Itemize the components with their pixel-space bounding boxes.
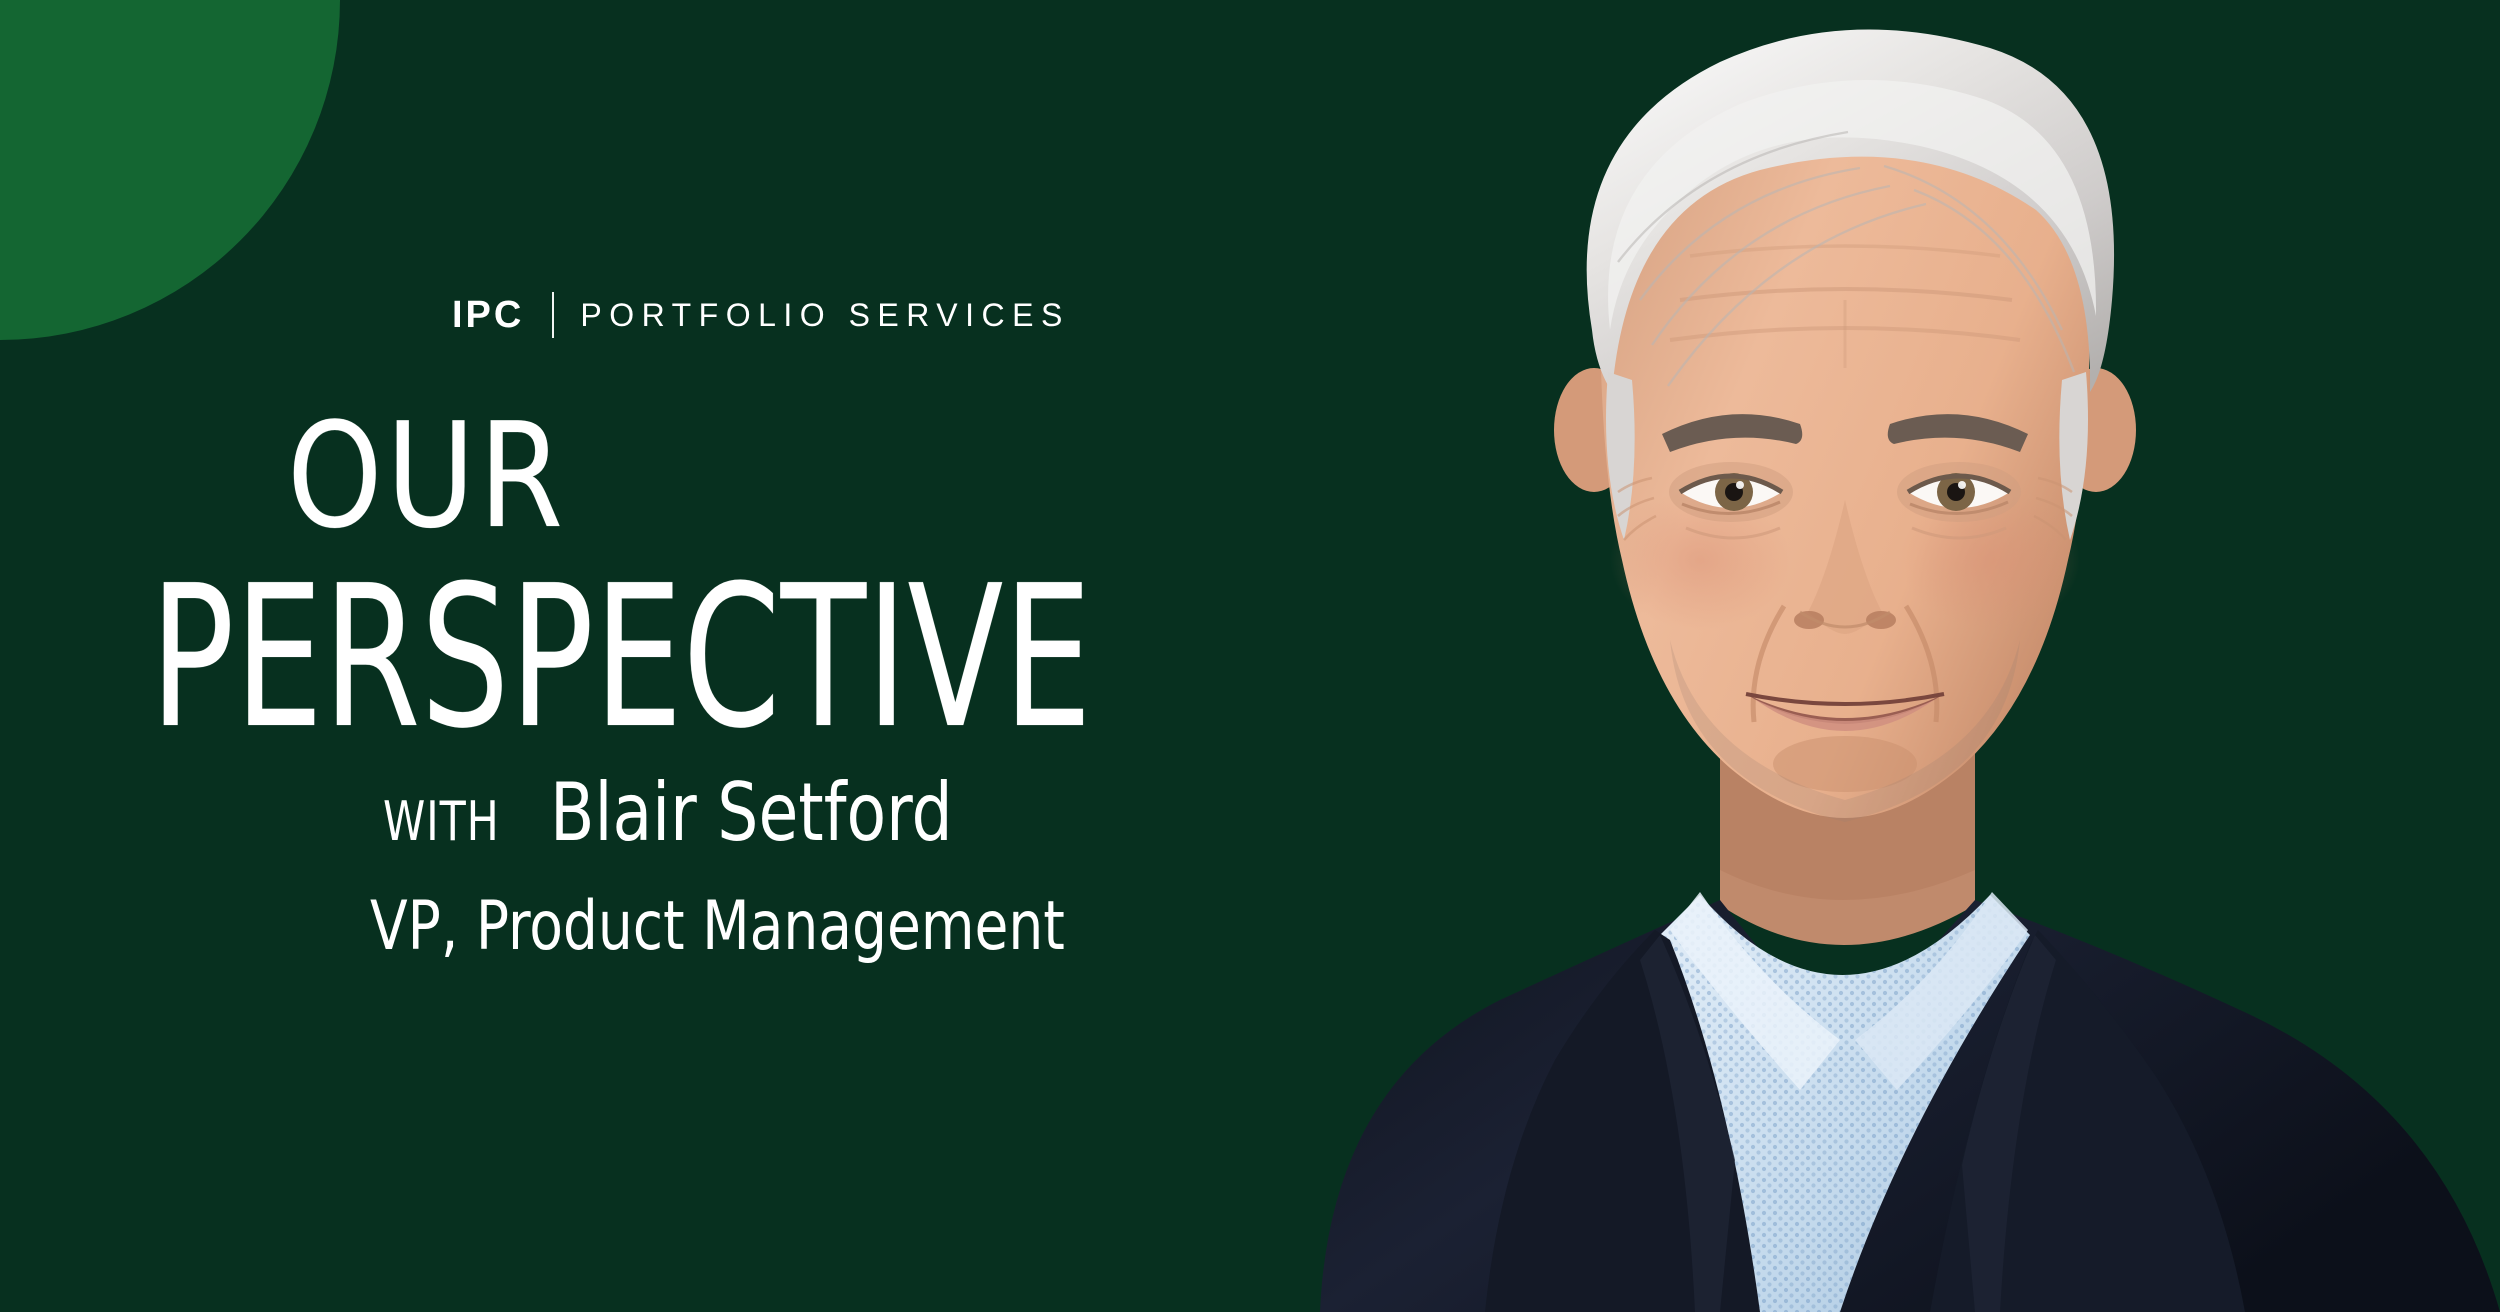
brand-service-line: PORTFOLIO SERVICES [580,299,1069,331]
headline-line-one: OUR [287,404,567,549]
byline-speaker-name: Blair Setford [550,773,953,853]
brand-mark-ipc: IPC [452,296,524,334]
our-perspective-banner: IPC PORTFOLIO SERVICES OUR PERSPECTIVE W… [0,0,2500,1312]
byline-preposition: WITH [383,795,500,849]
portrait-illustration [1200,0,2500,1312]
byline-speaker-role: VP, Product Management [370,893,1065,961]
brand-divider-icon [552,292,554,338]
brand-lockup: IPC PORTFOLIO SERVICES [452,292,1070,338]
byline: WITH Blair Setford [383,773,997,853]
headline-line-two: PERSPECTIVE [150,560,1092,756]
portrait-photo [1200,0,2500,1312]
